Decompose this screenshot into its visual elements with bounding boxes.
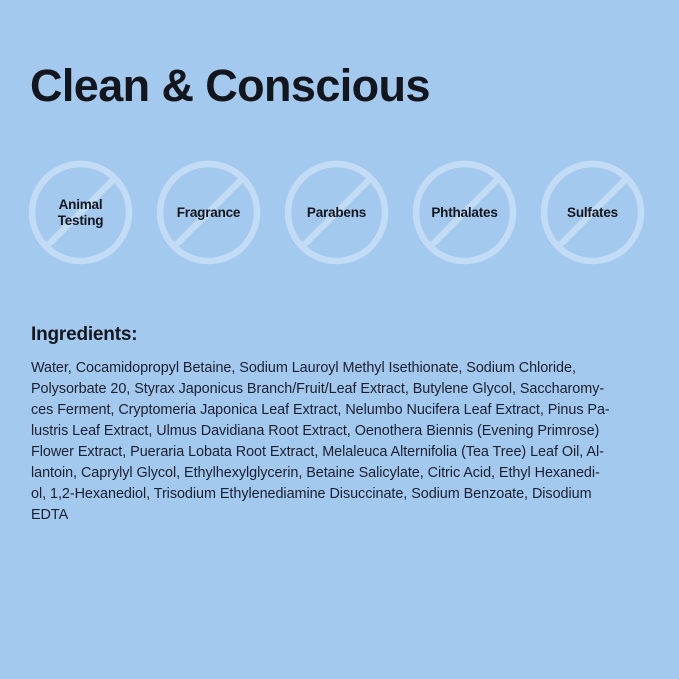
clean-conscious-panel: Clean & Conscious Animal TestingFragranc… xyxy=(0,0,679,679)
no-symbol-icon xyxy=(540,160,645,265)
no-symbol-icon xyxy=(156,160,261,265)
no-symbol-icon xyxy=(284,160,389,265)
badge-fragrance: Fragrance xyxy=(156,160,261,265)
no-symbol-icon xyxy=(412,160,517,265)
free-from-badge-row: Animal TestingFragranceParabensPhthalate… xyxy=(28,160,668,266)
badge-phthalates: Phthalates xyxy=(412,160,517,265)
badge-parabens: Parabens xyxy=(284,160,389,265)
ingredients-list: Water, Cocamidopropyl Betaine, Sodium La… xyxy=(31,358,653,526)
badge-sulfates: Sulfates xyxy=(540,160,645,265)
no-symbol-icon xyxy=(28,160,133,265)
page-title: Clean & Conscious xyxy=(30,62,430,109)
badge-animal-testing: Animal Testing xyxy=(28,160,133,265)
ingredients-heading: Ingredients: xyxy=(31,324,137,346)
